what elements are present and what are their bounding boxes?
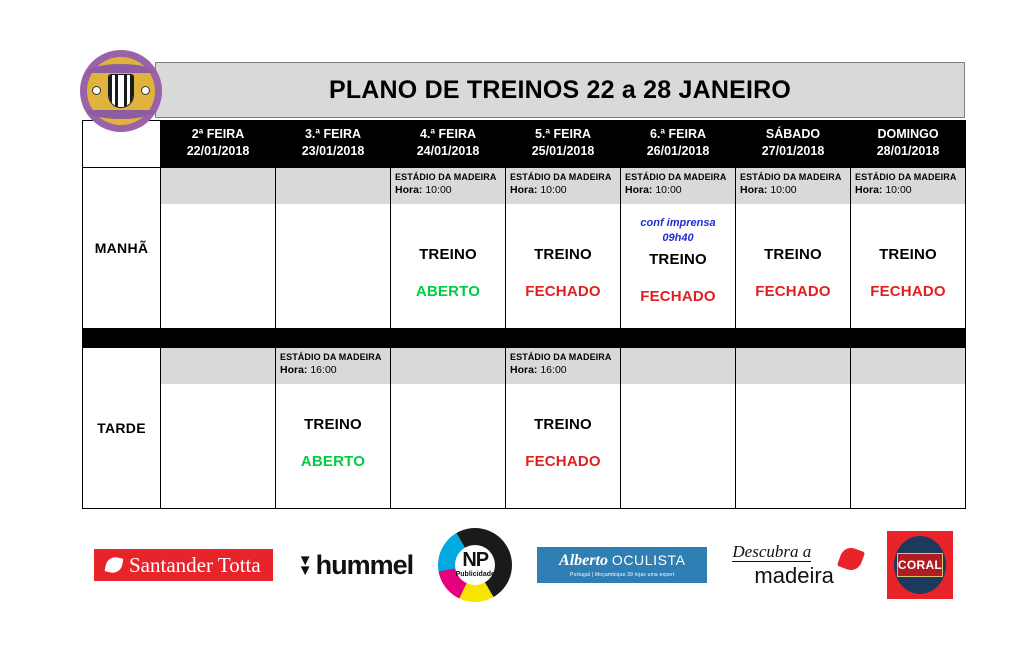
- training-schedule-table: 2ª FEIRA 22/01/2018 3.ª FEIRA 23/01/2018…: [82, 120, 966, 509]
- day-name: 5.ª FEIRA: [508, 126, 618, 143]
- venue-strip: [161, 348, 275, 384]
- session-cell-thu-morning[interactable]: ESTÁDIO DA MADEIRA Hora: 10:00 TREINO FE…: [506, 167, 621, 328]
- time-label: Hora:: [510, 184, 537, 196]
- separator-cell: [621, 328, 736, 347]
- day-header-mon: 2ª FEIRA 22/01/2018: [161, 121, 276, 168]
- session-cell-thu-afternoon[interactable]: ESTÁDIO DA MADEIRA Hora: 16:00 TREINO FE…: [506, 347, 621, 508]
- activity-label: TREINO: [764, 246, 822, 263]
- row-separator-band: [83, 328, 966, 347]
- venue-strip: [736, 348, 850, 384]
- status-badge: FECHADO: [525, 283, 601, 300]
- venue-time: Hora: 10:00: [625, 183, 731, 198]
- separator-cell: [391, 328, 506, 347]
- coral-logo-icon: CORAL: [887, 531, 953, 599]
- day-name: 6.ª FEIRA: [623, 126, 733, 143]
- day-header-tue: 3.ª FEIRA 23/01/2018: [276, 121, 391, 168]
- time-label: Hora:: [510, 364, 537, 376]
- activity-label: TREINO: [419, 246, 477, 263]
- day-header-wed: 4.ª FEIRA 24/01/2018: [391, 121, 506, 168]
- separator-cell: [276, 328, 391, 347]
- note-line-1: conf imprensa: [640, 217, 715, 229]
- sponsor-santander-totta: Santander Totta: [94, 549, 273, 581]
- session-cell-sun-afternoon[interactable]: [851, 347, 966, 508]
- separator-cell: [83, 328, 161, 347]
- madeira-flower-icon: [837, 545, 865, 573]
- day-date: 26/01/2018: [623, 143, 733, 160]
- press-conference-note: conf imprensa 09h40: [640, 216, 715, 246]
- session-cell-tue-afternoon[interactable]: ESTÁDIO DA MADEIRA Hora: 16:00 TREINO AB…: [276, 347, 391, 508]
- crest-ball-right-icon: [141, 86, 150, 95]
- sponsor-name-secondary: madeira: [754, 565, 833, 587]
- status-badge: FECHADO: [870, 283, 946, 300]
- time-value: 10:00: [425, 184, 451, 196]
- venue-name: ESTÁDIO DA MADEIRA: [510, 351, 616, 363]
- venue-time: Hora: 16:00: [280, 363, 386, 378]
- day-header-fri: 6.ª FEIRA 26/01/2018: [621, 121, 736, 168]
- session-cell-sat-morning[interactable]: ESTÁDIO DA MADEIRA Hora: 10:00 TREINO FE…: [736, 167, 851, 328]
- activity-label: TREINO: [649, 251, 707, 268]
- status-badge: ABERTO: [301, 453, 365, 470]
- sponsor-alberto-oculista: Alberto OCULISTA Portugal | Moçambique 3…: [537, 547, 707, 583]
- club-crest: [80, 50, 162, 132]
- sponsor-np-publicidade: NP Publicidade: [438, 528, 512, 602]
- day-header-thu: 5.ª FEIRA 25/01/2018: [506, 121, 621, 168]
- session-cell-mon-afternoon[interactable]: [161, 347, 276, 508]
- page-title-bar: PLANO DE TREINOS 22 a 28 JANEIRO: [155, 62, 965, 118]
- venue-time: Hora: 10:00: [395, 183, 501, 198]
- day-date: 27/01/2018: [738, 143, 848, 160]
- crest-band-top: [87, 64, 155, 73]
- time-label: Hora:: [855, 184, 882, 196]
- separator-cell: [161, 328, 276, 347]
- venue-strip: ESTÁDIO DA MADEIRA Hora: 10:00: [736, 168, 850, 204]
- day-name: SÁBADO: [738, 126, 848, 143]
- time-label: Hora:: [740, 184, 767, 196]
- sponsor-subtitle: Publicidade: [438, 570, 512, 580]
- separator-cell: [736, 328, 851, 347]
- crest-shield-icon: [108, 74, 134, 108]
- venue-strip: [621, 348, 735, 384]
- day-name: 4.ª FEIRA: [393, 126, 503, 143]
- sponsor-coral: CORAL: [887, 531, 953, 599]
- day-date: 28/01/2018: [853, 143, 963, 160]
- day-date: 24/01/2018: [393, 143, 503, 160]
- venue-time: Hora: 10:00: [855, 183, 961, 198]
- session-cell-wed-afternoon[interactable]: [391, 347, 506, 508]
- day-name: 3.ª FEIRA: [278, 126, 388, 143]
- activity-label: TREINO: [304, 416, 362, 433]
- time-value: 10:00: [885, 184, 911, 196]
- venue-time: Hora: 10:00: [510, 183, 616, 198]
- sponsor-tagline: Portugal | Moçambique 39 lojas uma exper…: [570, 572, 675, 578]
- venue-strip: ESTÁDIO DA MADEIRA Hora: 10:00: [506, 168, 620, 204]
- time-label: Hora:: [625, 184, 652, 196]
- schedule-row-afternoon: TARDE ESTÁDIO DA MADEIRA Hora: 16:00: [83, 347, 966, 508]
- day-date: 23/01/2018: [278, 143, 388, 160]
- day-name: DOMINGO: [853, 126, 963, 143]
- session-cell-tue-morning[interactable]: [276, 167, 391, 328]
- sponsor-name: Alberto: [559, 552, 608, 569]
- time-value: 10:00: [655, 184, 681, 196]
- time-value: 10:00: [770, 184, 796, 196]
- activity-label: TREINO: [534, 416, 592, 433]
- sponsor-name: NP: [438, 550, 512, 570]
- venue-strip: ESTÁDIO DA MADEIRA Hora: 10:00: [851, 168, 965, 204]
- sponsor-strip: Santander Totta ▼▼ hummel NP Publicidade…: [82, 524, 965, 606]
- session-cell-fri-morning[interactable]: ESTÁDIO DA MADEIRA Hora: 10:00 conf impr…: [621, 167, 736, 328]
- venue-name: ESTÁDIO DA MADEIRA: [510, 171, 616, 183]
- time-value: 10:00: [540, 184, 566, 196]
- sponsor-descubra-a-madeira: Descubra a madeira: [732, 543, 861, 587]
- venue-strip: [276, 168, 390, 204]
- note-line-2: 09h40: [662, 232, 693, 244]
- venue-strip: [161, 168, 275, 204]
- venue-name: ESTÁDIO DA MADEIRA: [395, 171, 501, 183]
- venue-time: Hora: 16:00: [510, 363, 616, 378]
- day-date: 25/01/2018: [508, 143, 618, 160]
- session-cell-wed-morning[interactable]: ESTÁDIO DA MADEIRA Hora: 10:00 TREINO AB…: [391, 167, 506, 328]
- status-badge: FECHADO: [525, 453, 601, 470]
- sponsor-name: hummel: [316, 550, 414, 581]
- activity-label: TREINO: [534, 246, 592, 263]
- crest-inner-disc: [87, 57, 155, 125]
- day-name: 2ª FEIRA: [163, 126, 273, 143]
- venue-name: ESTÁDIO DA MADEIRA: [740, 171, 846, 183]
- time-value: 16:00: [540, 364, 566, 376]
- venue-name: ESTÁDIO DA MADEIRA: [855, 171, 961, 183]
- crest-band-bottom: [87, 110, 155, 119]
- sponsor-name: Santander Totta: [129, 553, 261, 578]
- santander-flame-icon: [105, 556, 124, 575]
- time-label: Hora:: [280, 364, 307, 376]
- status-badge: ABERTO: [416, 283, 480, 300]
- venue-time: Hora: 10:00: [740, 183, 846, 198]
- schedule-row-morning: MANHÃ: [83, 167, 966, 328]
- time-label: Hora:: [395, 184, 422, 196]
- session-cell-sat-afternoon[interactable]: [736, 347, 851, 508]
- activity-label: TREINO: [879, 246, 937, 263]
- period-label-afternoon: TARDE: [83, 347, 161, 508]
- venue-name: ESTÁDIO DA MADEIRA: [625, 171, 731, 183]
- sponsor-name: Descubra a: [732, 543, 811, 562]
- sponsor-hummel: ▼▼ hummel: [298, 550, 413, 581]
- venue-strip: ESTÁDIO DA MADEIRA Hora: 16:00: [506, 348, 620, 384]
- session-cell-sun-morning[interactable]: ESTÁDIO DA MADEIRA Hora: 10:00 TREINO FE…: [851, 167, 966, 328]
- status-badge: FECHADO: [640, 288, 716, 305]
- venue-strip: [851, 348, 965, 384]
- venue-strip: ESTÁDIO DA MADEIRA Hora: 16:00: [276, 348, 390, 384]
- sponsor-name: CORAL: [898, 558, 942, 572]
- separator-cell: [506, 328, 621, 347]
- crest-ball-left-icon: [92, 86, 101, 95]
- session-cell-fri-afternoon[interactable]: [621, 347, 736, 508]
- venue-strip: ESTÁDIO DA MADEIRA Hora: 10:00: [621, 168, 735, 204]
- time-value: 16:00: [310, 364, 336, 376]
- sponsor-name-secondary: OCULISTA: [612, 552, 686, 568]
- page-title: PLANO DE TREINOS 22 a 28 JANEIRO: [329, 76, 791, 105]
- day-header-sun: DOMINGO 28/01/2018: [851, 121, 966, 168]
- venue-strip: [391, 348, 505, 384]
- table-header-row: 2ª FEIRA 22/01/2018 3.ª FEIRA 23/01/2018…: [83, 121, 966, 168]
- period-label-morning: MANHÃ: [83, 167, 161, 328]
- venue-name: ESTÁDIO DA MADEIRA: [280, 351, 386, 363]
- separator-cell: [851, 328, 966, 347]
- venue-strip: ESTÁDIO DA MADEIRA Hora: 10:00: [391, 168, 505, 204]
- status-badge: FECHADO: [755, 283, 831, 300]
- session-cell-mon-morning[interactable]: [161, 167, 276, 328]
- day-date: 22/01/2018: [163, 143, 273, 160]
- day-header-sat: SÁBADO 27/01/2018: [736, 121, 851, 168]
- hummel-chevron-icon: ▼▼: [298, 556, 313, 575]
